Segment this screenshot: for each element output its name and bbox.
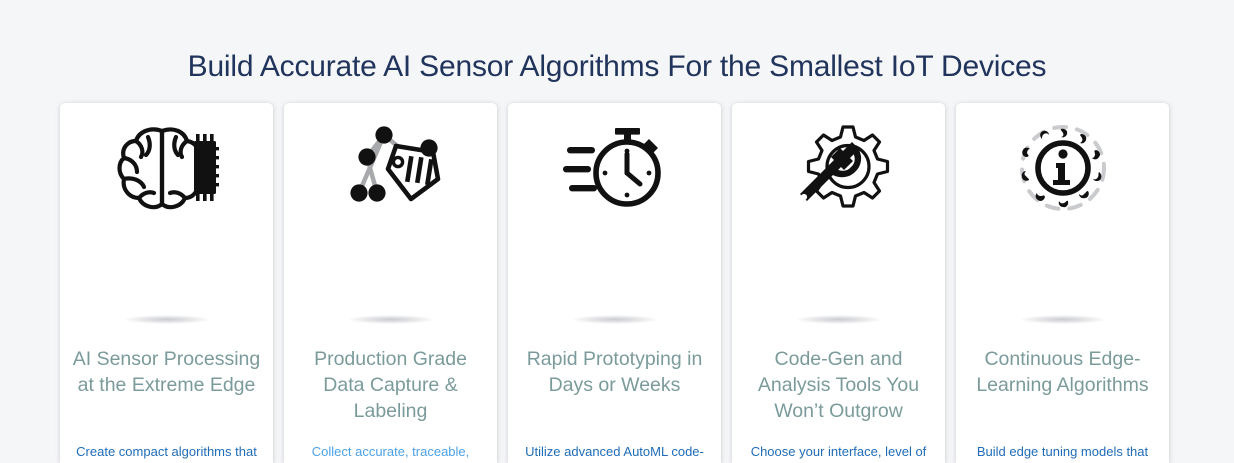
feature-card-code-gen-tools[interactable]: Code-Gen and Analysis Tools You Won’t Ou…: [732, 103, 945, 463]
icon-drop-shadow: [1020, 315, 1106, 324]
card-heading: Continuous Edge-Learning Algorithms: [968, 346, 1157, 398]
icon-drop-shadow: [796, 315, 882, 324]
feature-cards-page: Build Accurate AI Sensor Algorithms For …: [0, 0, 1234, 458]
card-heading: AI Sensor Processing at the Extreme Edge: [72, 346, 261, 398]
icon-drop-shadow: [348, 315, 434, 324]
icon-drop-shadow: [124, 315, 210, 324]
feature-card-data-capture-labeling[interactable]: Production Grade Data Capture & Labeling…: [284, 103, 497, 463]
card-heading: Code-Gen and Analysis Tools You Won’t Ou…: [744, 346, 933, 424]
card-body-text: Create compact algorithms that execute o…: [72, 441, 261, 463]
icon-drop-shadow: [572, 315, 658, 324]
card-heading: Production Grade Data Capture & Labeling: [296, 346, 485, 424]
card-body-text: Collect accurate, traceable, version con…: [296, 441, 485, 463]
card-heading: Rapid Prototyping in Days or Weeks: [520, 346, 709, 398]
card-body-text: Utilize advanced AutoML code-gen to quic…: [520, 441, 709, 463]
feature-card-edge-learning[interactable]: Continuous Edge-Learning Algorithms Buil…: [956, 103, 1169, 463]
page-title: Build Accurate AI Sensor Algorithms For …: [0, 50, 1234, 84]
feature-card-ai-sensor-processing[interactable]: AI Sensor Processing at the Extreme Edge…: [60, 103, 273, 463]
data-label-tag-icon: [284, 113, 497, 225]
info-orbit-icon: [956, 113, 1169, 225]
gear-wrench-icon: [732, 113, 945, 225]
stopwatch-speed-icon: [508, 113, 721, 225]
feature-card-rapid-prototyping[interactable]: Rapid Prototyping in Days or Weeks Utili…: [508, 103, 721, 463]
brain-chip-icon: [60, 113, 273, 225]
card-body-text: Choose your interface, level of AI exper…: [744, 441, 933, 463]
card-body-text: Build edge tuning models that that custo…: [968, 441, 1157, 463]
feature-card-list: AI Sensor Processing at the Extreme Edge…: [60, 103, 1177, 463]
